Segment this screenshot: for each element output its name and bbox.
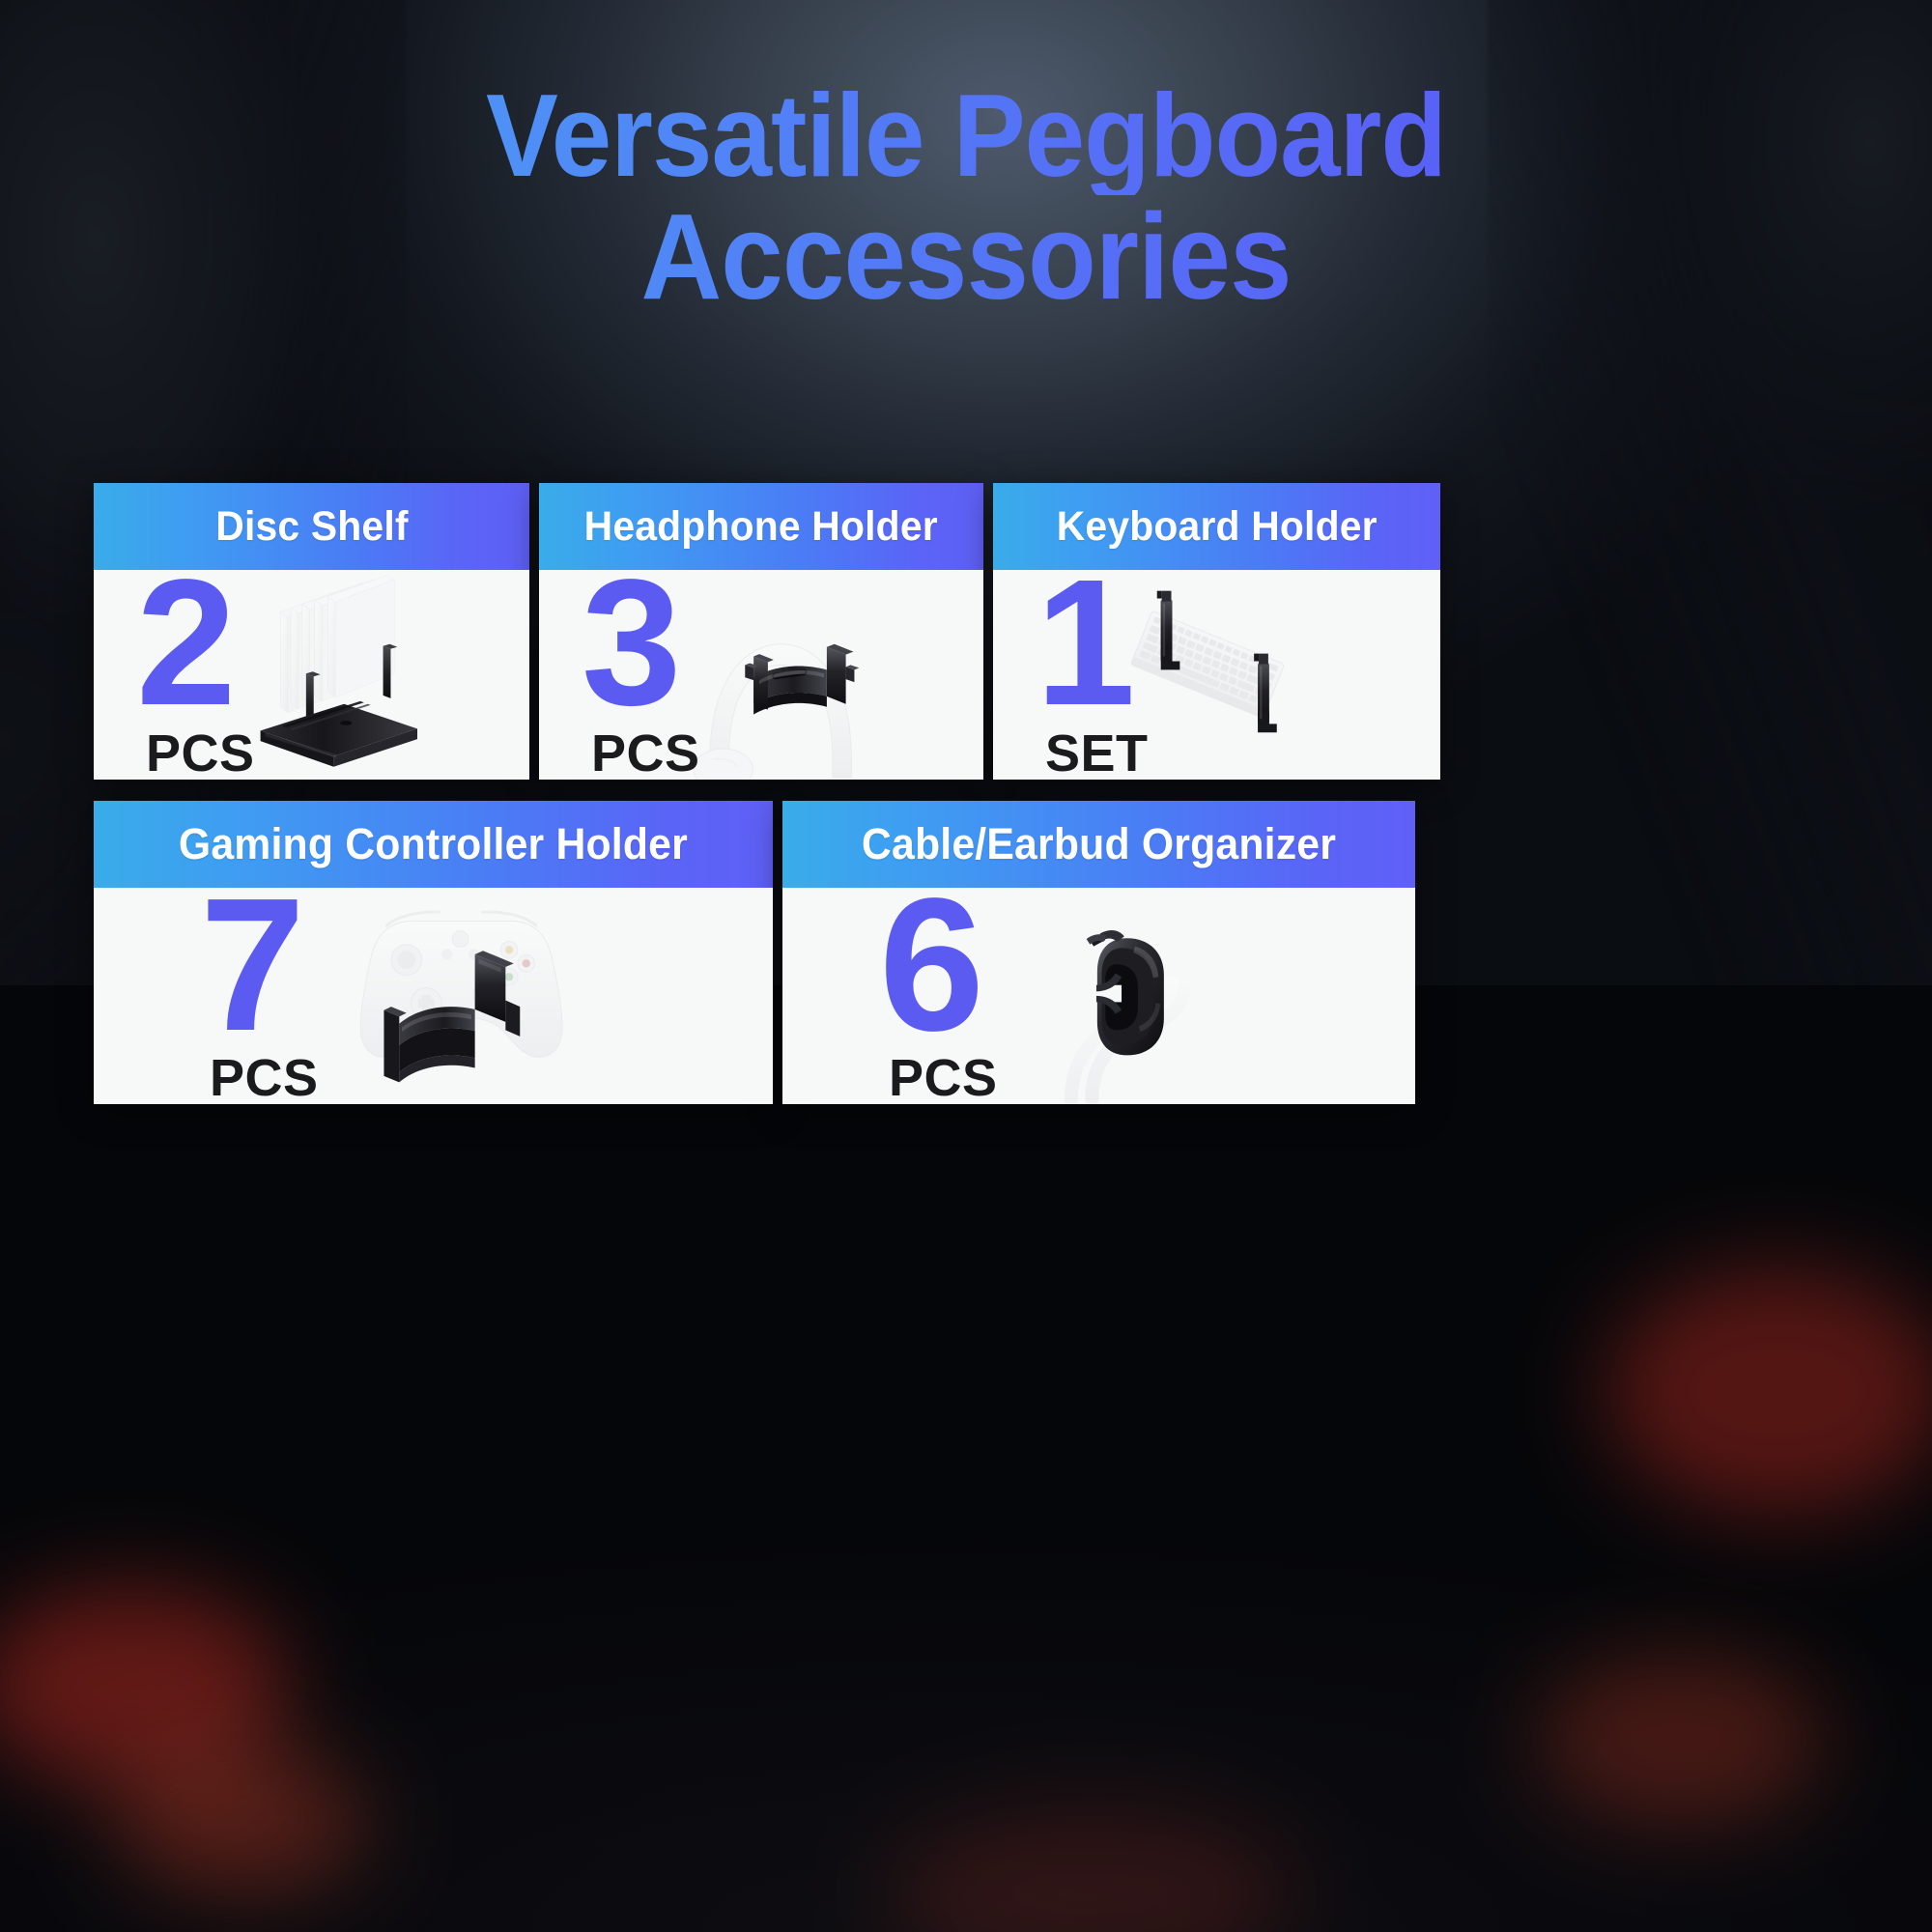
cable-earbud-organizer-illustration [782, 888, 1415, 1105]
count-number-gaming-controller-holder: 7 [200, 888, 301, 1043]
card-body-cable-earbud-organizer: 6 PCS [782, 888, 1415, 1105]
page-title-line-2: Accessories [77, 195, 1855, 320]
card-row-top: Disc Shelf [94, 483, 1838, 780]
count-block-gaming-controller-holder: 7 PCS [200, 888, 319, 1105]
infographic-stage: Versatile Pegboard Accessories Disc Shel… [0, 0, 1932, 1932]
page-title-line-1: Versatile Pegboard [77, 75, 1855, 195]
card-title-headphone-holder: Headphone Holder [584, 503, 938, 551]
page-title: Versatile Pegboard Accessories [0, 75, 1932, 320]
accessory-card-grid: Disc Shelf [94, 483, 1838, 1104]
card-body-headphone-holder: 3 PCS [539, 570, 983, 780]
controller-holder-illustration [94, 888, 773, 1105]
count-number-disc-shelf: 2 [136, 570, 232, 718]
card-disc-shelf[interactable]: Disc Shelf [94, 483, 529, 780]
card-title-keyboard-holder: Keyboard Holder [1057, 503, 1378, 551]
count-block-headphone-holder: 3 PCS [582, 570, 700, 780]
card-title-cable-earbud-organizer: Cable/Earbud Organizer [862, 819, 1336, 869]
count-unit-cable-earbud-organizer: PCS [889, 1052, 998, 1104]
card-header-cable-earbud-organizer: Cable/Earbud Organizer [782, 801, 1415, 888]
card-headphone-holder[interactable]: Headphone Holder [539, 483, 983, 780]
count-block-disc-shelf: 2 PCS [136, 570, 255, 780]
card-body-keyboard-holder: 1 SET [993, 570, 1440, 780]
count-number-cable-earbud-organizer: 6 [879, 888, 980, 1043]
count-unit-headphone-holder: PCS [591, 727, 700, 780]
card-title-disc-shelf: Disc Shelf [215, 503, 408, 551]
count-number-keyboard-holder: 1 [1036, 570, 1131, 718]
keyboard-holder-illustration [993, 570, 1440, 780]
count-unit-disc-shelf: PCS [146, 727, 255, 780]
card-row-bottom: Gaming Controller Holder [94, 801, 1838, 1105]
card-header-keyboard-holder: Keyboard Holder [993, 483, 1440, 570]
card-body-disc-shelf: 2 PCS [94, 570, 529, 780]
card-header-gaming-controller-holder: Gaming Controller Holder [94, 801, 773, 888]
count-block-keyboard-holder: 1 SET [1036, 570, 1149, 780]
card-header-headphone-holder: Headphone Holder [539, 483, 983, 570]
count-number-headphone-holder: 3 [582, 570, 677, 718]
disc-shelf-illustration [94, 570, 529, 780]
card-header-disc-shelf: Disc Shelf [94, 483, 529, 570]
count-block-cable-earbud-organizer: 6 PCS [879, 888, 998, 1105]
count-unit-keyboard-holder: SET [1045, 727, 1149, 780]
card-keyboard-holder[interactable]: Keyboard Holder [993, 483, 1440, 780]
card-cable-earbud-organizer[interactable]: Cable/Earbud Organizer [782, 801, 1415, 1105]
card-body-gaming-controller-holder: 7 PCS [94, 888, 773, 1105]
count-unit-gaming-controller-holder: PCS [210, 1052, 319, 1104]
card-gaming-controller-holder[interactable]: Gaming Controller Holder [94, 801, 773, 1105]
headphone-holder-illustration [539, 570, 983, 780]
card-title-gaming-controller-holder: Gaming Controller Holder [179, 819, 688, 869]
